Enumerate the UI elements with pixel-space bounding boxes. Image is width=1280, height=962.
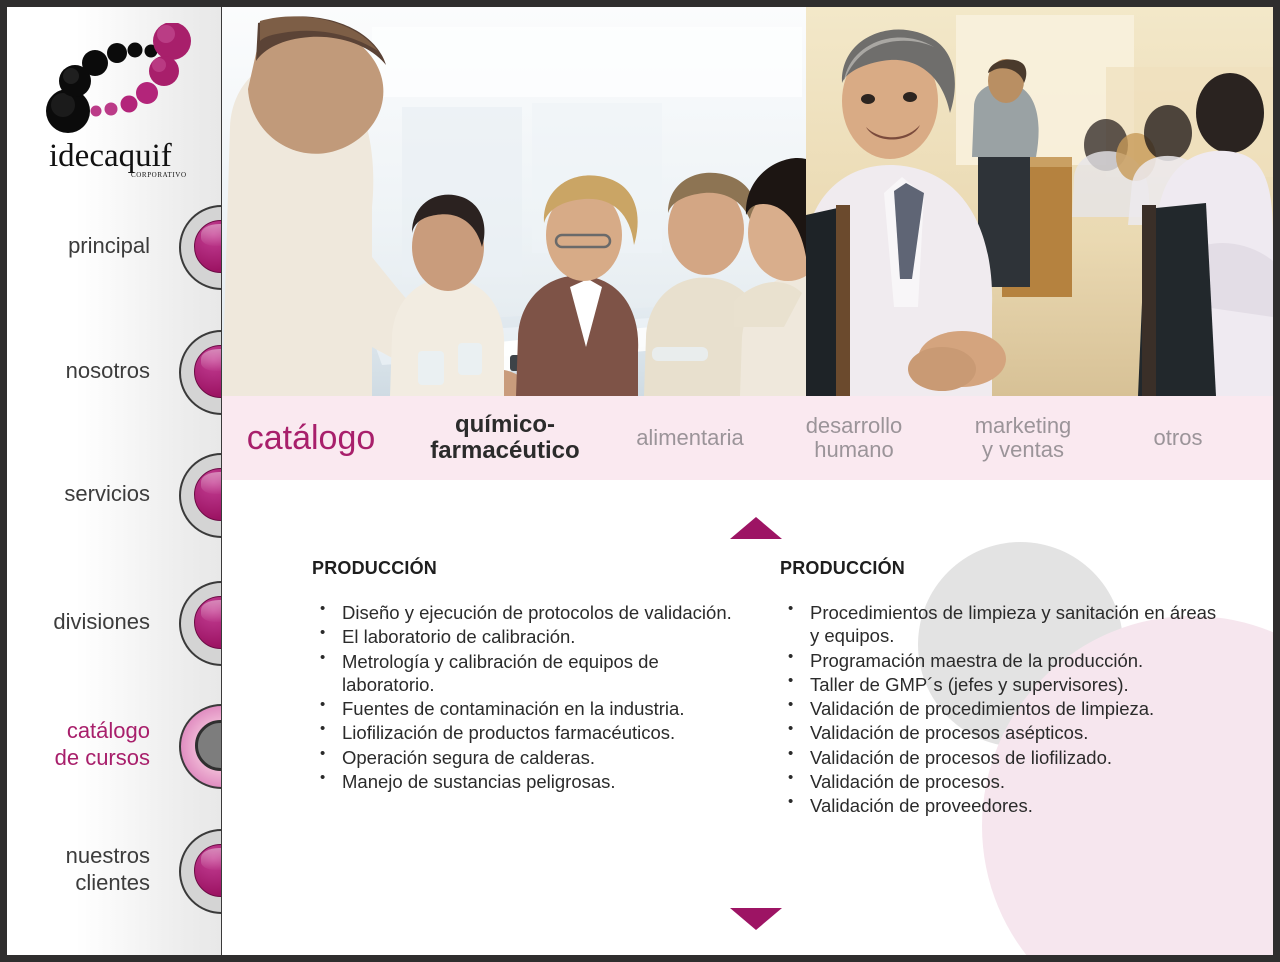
course-list-right: Procedimientos de limpieza y sanitación …	[780, 601, 1230, 818]
list-item[interactable]: Validación de procesos de liofilizado.	[780, 746, 1230, 769]
tab-alimentaria[interactable]: alimentaria	[610, 396, 770, 480]
sidebar-item-label: principal	[7, 201, 150, 291]
brand-subtitle: CORPORATIVO	[131, 171, 187, 179]
tab-otros[interactable]: otros	[1108, 396, 1248, 480]
list-item[interactable]: Validación de proveedores.	[780, 794, 1230, 817]
list-item[interactable]: Taller de GMP´s (jefes y supervisores).	[780, 673, 1230, 696]
course-column-left: PRODUCCIÓN Diseño y ejecución de protoco…	[312, 558, 732, 794]
business-meeting-photo	[222, 7, 806, 396]
list-item[interactable]: Operación segura de calderas.	[312, 746, 732, 769]
seminar-attendee-photo	[806, 7, 1273, 396]
list-item[interactable]: El laboratorio de calibración.	[312, 625, 732, 648]
sidebar-item-nuestros-clientes[interactable]: nuestros clientes	[7, 825, 222, 915]
sidebar-item-label: nosotros	[7, 326, 150, 416]
sidebar-item-label: nuestros clientes	[7, 825, 150, 915]
sidebar-item-principal[interactable]: principal	[7, 201, 222, 291]
sidebar-item-catalogo-de-cursos[interactable]: catálogo de cursos	[7, 700, 222, 790]
column-heading: PRODUCCIÓN	[780, 558, 1230, 579]
list-item[interactable]: Manejo de sustancias peligrosas.	[312, 770, 732, 793]
course-column-right: PRODUCCIÓN Procedimientos de limpieza y …	[780, 558, 1230, 819]
sidebar-item-nosotros[interactable]: nosotros	[7, 326, 222, 416]
list-item[interactable]: Liofilización de productos farmacéuticos…	[312, 721, 732, 744]
tab-catalogo: catálogo	[222, 396, 400, 480]
sidebar: idecaquif CORPORATIVO principal nosotros…	[7, 7, 222, 955]
list-item[interactable]: Fuentes de contaminación en la industria…	[312, 697, 732, 720]
column-heading: PRODUCCIÓN	[312, 558, 732, 579]
category-tabbar: catálogo químico- farmacéutico alimentar…	[222, 396, 1273, 480]
sidebar-item-label: divisiones	[7, 577, 150, 667]
list-item[interactable]: Diseño y ejecución de protocolos de vali…	[312, 601, 732, 624]
logo-spiral-icon	[43, 23, 203, 138]
course-content-panel: PRODUCCIÓN Diseño y ejecución de protoco…	[222, 480, 1273, 955]
tab-quimico-farmaceutico[interactable]: químico- farmacéutico	[400, 396, 610, 480]
brand-wordmark: idecaquif	[49, 138, 172, 175]
page-canvas: idecaquif CORPORATIVO principal nosotros…	[7, 7, 1273, 955]
sidebar-item-divisiones[interactable]: divisiones	[7, 577, 222, 667]
list-item[interactable]: Metrología y calibración de equipos de l…	[312, 650, 732, 697]
list-item[interactable]: Validación de procesos.	[780, 770, 1230, 793]
brand-logo[interactable]: idecaquif CORPORATIVO	[43, 23, 203, 173]
list-item[interactable]: Programación maestra de la producción.	[780, 649, 1230, 672]
tab-marketing-y-ventas[interactable]: marketing y ventas	[938, 396, 1108, 480]
sidebar-item-label: catálogo de cursos	[7, 700, 150, 790]
tab-desarrollo-humano[interactable]: desarrollo humano	[770, 396, 938, 480]
sidebar-item-servicios[interactable]: servicios	[7, 449, 222, 539]
list-item[interactable]: Validación de procedimientos de limpieza…	[780, 697, 1230, 720]
page-frame: idecaquif CORPORATIVO principal nosotros…	[0, 0, 1280, 962]
sidebar-item-label: servicios	[7, 449, 150, 539]
course-list-left: Diseño y ejecución de protocolos de vali…	[312, 601, 732, 793]
hero-photos	[222, 7, 1273, 396]
list-item[interactable]: Procedimientos de limpieza y sanitación …	[780, 601, 1230, 648]
list-item[interactable]: Validación de procesos asépticos.	[780, 721, 1230, 744]
